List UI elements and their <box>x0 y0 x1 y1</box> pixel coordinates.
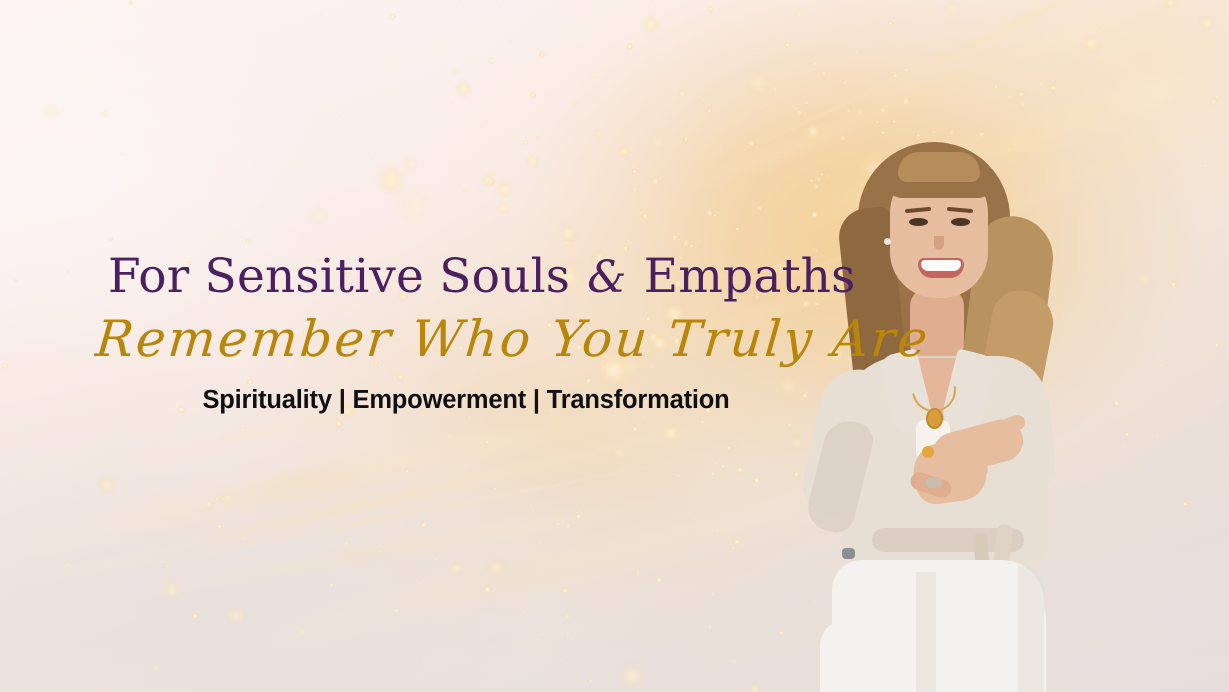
bokeh-sparkle <box>329 583 334 588</box>
bokeh-sparkle <box>701 98 704 101</box>
bokeh-sparkle <box>1203 164 1207 168</box>
bokeh-sparkle <box>109 237 113 241</box>
bokeh-sparkle <box>1210 10 1212 12</box>
bokeh-sparkle <box>193 438 196 441</box>
bokeh-sparkle <box>700 420 705 425</box>
bokeh-sparkle <box>820 70 827 77</box>
bokeh-sparkle <box>1000 17 1004 21</box>
bokeh-sparkle <box>597 188 599 190</box>
bokeh-sparkle <box>588 159 591 162</box>
bokeh-sparkle <box>736 466 744 474</box>
bokeh-sparkle <box>217 524 221 528</box>
bokeh-sparkle <box>509 40 513 44</box>
bokeh-sparkle <box>538 541 541 544</box>
bokeh-sparkle <box>902 98 909 105</box>
bokeh-sparkle <box>485 440 489 444</box>
light-ribbon <box>0 391 694 571</box>
bokeh-sparkle <box>380 168 404 192</box>
bokeh-sparkle <box>488 560 504 576</box>
bokeh-sparkle <box>706 209 714 217</box>
bokeh-sparkle <box>539 52 545 58</box>
bokeh-sparkle <box>529 214 532 217</box>
bokeh-sparkle <box>632 169 637 174</box>
bokeh-sparkle <box>237 663 239 665</box>
bokeh-sparkle <box>53 303 55 305</box>
bokeh-sparkle <box>312 209 327 224</box>
bokeh-sparkle <box>575 513 582 520</box>
bokeh-sparkle <box>450 562 462 574</box>
bokeh-sparkle <box>486 120 489 123</box>
bokeh-sparkle <box>778 630 785 637</box>
bokeh-sparkle <box>463 188 467 192</box>
bokeh-sparkle <box>1011 65 1013 67</box>
bokeh-sparkle <box>44 104 59 119</box>
bokeh-sparkle <box>670 470 672 472</box>
bokeh-sparkle <box>588 678 594 684</box>
bokeh-sparkle <box>1210 41 1213 44</box>
bokeh-sparkle <box>833 21 835 23</box>
bokeh-sparkle <box>1214 342 1220 348</box>
bokeh-sparkle <box>66 563 70 567</box>
bokeh-sparkle <box>419 582 422 585</box>
bokeh-sparkle <box>498 202 509 213</box>
bokeh-sparkle <box>262 547 264 549</box>
bokeh-sparkle <box>405 469 409 473</box>
bokeh-sparkle <box>398 66 401 69</box>
bokeh-sparkle <box>651 134 665 148</box>
bokeh-sparkle <box>228 608 244 624</box>
bokeh-sparkle <box>205 500 212 507</box>
bokeh-sparkle <box>619 186 621 188</box>
bokeh-sparkle <box>741 437 744 440</box>
bokeh-sparkle <box>550 86 552 88</box>
bokeh-sparkle <box>483 585 492 594</box>
bokeh-sparkle <box>712 114 715 117</box>
bokeh-sparkle <box>880 107 886 113</box>
bokeh-sparkle <box>530 92 536 98</box>
bokeh-sparkle <box>573 102 577 106</box>
bokeh-sparkle <box>555 427 557 429</box>
bokeh-sparkle <box>632 426 638 432</box>
light-ribbon <box>64 492 695 610</box>
bokeh-sparkle <box>663 425 679 441</box>
bokeh-sparkle <box>622 245 629 252</box>
bokeh-sparkle <box>566 524 570 528</box>
bokeh-sparkle <box>1172 474 1174 476</box>
light-ribbon <box>26 453 714 589</box>
light-ribbon <box>188 473 892 669</box>
bokeh-sparkle <box>227 550 231 554</box>
bokeh-sparkle <box>578 508 582 512</box>
bokeh-sparkle <box>458 610 461 613</box>
bokeh-sparkle <box>772 86 778 92</box>
bokeh-sparkle <box>639 196 641 198</box>
bokeh-sparkle <box>842 80 848 86</box>
hero-copy: For Sensitive Souls & Empaths Remember W… <box>96 252 836 415</box>
bokeh-sparkle <box>677 474 680 477</box>
bokeh-sparkle <box>420 522 426 528</box>
bokeh-sparkle <box>678 90 686 98</box>
bokeh-sparkle <box>14 279 17 282</box>
bokeh-sparkle <box>129 0 133 4</box>
bokeh-sparkle <box>507 494 509 496</box>
bokeh-sparkle <box>1196 194 1199 197</box>
bokeh-sparkle <box>781 522 783 524</box>
bokeh-sparkle <box>683 240 689 246</box>
bokeh-sparkle <box>848 30 851 33</box>
subject-photo <box>806 120 1136 692</box>
bokeh-sparkle <box>1018 91 1024 97</box>
bokeh-sparkle <box>724 483 727 486</box>
bokeh-sparkle <box>707 109 712 114</box>
bokeh-sparkle <box>137 431 141 435</box>
bokeh-sparkle <box>1174 197 1177 200</box>
bokeh-sparkle <box>487 177 495 185</box>
page-title: For Sensitive Souls & Empaths <box>108 252 836 301</box>
bokeh-sparkle <box>562 177 565 180</box>
bokeh-sparkle <box>1084 36 1099 51</box>
bokeh-sparkle <box>100 477 115 492</box>
bokeh-sparkle <box>500 238 503 241</box>
bokeh-sparkle <box>1098 28 1103 33</box>
bokeh-sparkle <box>905 68 909 72</box>
bokeh-sparkle <box>748 140 755 147</box>
bokeh-sparkle <box>643 17 658 32</box>
bokeh-sparkle <box>165 580 169 584</box>
bokeh-sparkle <box>447 483 450 486</box>
bokeh-sparkle <box>494 487 498 491</box>
light-ribbon <box>0 408 770 599</box>
bokeh-sparkle <box>213 571 216 574</box>
bokeh-sparkle <box>383 448 385 450</box>
bokeh-sparkle <box>404 226 408 230</box>
bokeh-sparkle <box>626 238 631 243</box>
bokeh-sparkle <box>636 571 640 575</box>
bokeh-sparkle <box>594 234 596 236</box>
bokeh-sparkle <box>594 129 604 139</box>
bokeh-sparkle <box>502 553 505 556</box>
bokeh-sparkle <box>102 110 109 117</box>
bokeh-sparkle <box>633 166 636 169</box>
bokeh-sparkle <box>692 62 696 66</box>
bokeh-sparkle <box>650 0 654 4</box>
bokeh-sparkle <box>641 213 648 220</box>
bokeh-sparkle <box>434 557 439 562</box>
bokeh-sparkle <box>628 181 630 183</box>
bokeh-sparkle <box>526 135 529 138</box>
bokeh-sparkle <box>591 72 596 77</box>
bokeh-sparkle <box>301 234 304 237</box>
bokeh-sparkle <box>605 164 608 167</box>
bokeh-sparkle <box>627 47 629 49</box>
bokeh-sparkle <box>217 558 220 561</box>
bokeh-sparkle <box>727 446 731 450</box>
bokeh-sparkle <box>788 423 791 426</box>
bokeh-sparkle <box>721 464 725 468</box>
bokeh-sparkle <box>961 35 963 37</box>
bokeh-sparkle <box>154 499 157 502</box>
bokeh-sparkle <box>651 177 660 186</box>
bokeh-sparkle <box>544 563 546 565</box>
bokeh-sparkle <box>213 481 216 484</box>
bokeh-sparkle <box>621 665 644 688</box>
bokeh-sparkle <box>363 529 365 531</box>
bokeh-sparkle <box>795 10 802 17</box>
bokeh-sparkle <box>710 591 715 596</box>
bokeh-sparkle <box>838 40 840 42</box>
bokeh-sparkle <box>716 529 719 532</box>
bokeh-sparkle <box>493 219 496 222</box>
bokeh-sparkle <box>620 146 630 156</box>
bokeh-sparkle <box>60 551 64 555</box>
bokeh-sparkle <box>736 227 740 231</box>
bokeh-sparkle <box>1091 74 1093 76</box>
bokeh-sparkle <box>711 472 715 476</box>
script-subheadline: Remember Who You Truly Are <box>94 313 839 366</box>
bokeh-sparkle <box>168 565 171 568</box>
bokeh-sparkle <box>44 486 48 490</box>
bokeh-sparkle <box>633 188 636 191</box>
bokeh-sparkle <box>240 427 246 433</box>
bokeh-sparkle <box>707 47 709 49</box>
bokeh-sparkle <box>261 206 264 209</box>
bokeh-sparkle <box>371 157 373 159</box>
hero-banner: For Sensitive Souls & Empaths Remember W… <box>0 0 1229 692</box>
bokeh-sparkle <box>337 509 340 512</box>
bokeh-sparkle <box>1201 17 1213 29</box>
bokeh-sparkle <box>1162 208 1164 210</box>
bokeh-sparkle <box>242 537 245 540</box>
bokeh-sparkle <box>1215 95 1218 98</box>
bokeh-sparkle <box>1139 487 1141 489</box>
bokeh-sparkle <box>714 460 720 466</box>
bokeh-sparkle <box>422 657 425 660</box>
bokeh-sparkle <box>733 538 741 546</box>
bokeh-sparkle <box>1136 488 1138 490</box>
bokeh-sparkle <box>399 190 430 221</box>
bokeh-sparkle <box>790 437 803 450</box>
headline-prefix: For Sensitive Souls <box>108 249 585 304</box>
bokeh-sparkle <box>319 497 321 499</box>
bokeh-sparkle <box>263 428 266 431</box>
bokeh-sparkle <box>561 226 576 241</box>
bokeh-sparkle <box>1210 98 1217 105</box>
bokeh-sparkle <box>67 271 70 274</box>
bokeh-sparkle <box>846 108 850 112</box>
bokeh-sparkle <box>708 625 712 629</box>
bokeh-sparkle <box>450 101 453 104</box>
headline-suffix: Empaths <box>629 249 856 304</box>
bokeh-sparkle <box>729 657 738 666</box>
bokeh-sparkle <box>753 477 760 484</box>
bokeh-sparkle <box>120 153 123 156</box>
bokeh-sparkle <box>497 590 499 592</box>
bokeh-sparkle <box>757 205 763 211</box>
bokeh-sparkle <box>1050 84 1058 92</box>
bokeh-sparkle <box>222 493 232 503</box>
bokeh-sparkle <box>164 563 170 569</box>
bokeh-sparkle <box>234 599 236 601</box>
bokeh-sparkle <box>343 540 350 547</box>
bokeh-sparkle <box>753 47 756 50</box>
bokeh-sparkle <box>888 21 893 26</box>
bokeh-sparkle <box>192 613 197 618</box>
bokeh-sparkle <box>680 91 683 94</box>
bokeh-sparkle <box>698 240 701 243</box>
bokeh-sparkle <box>394 608 399 613</box>
bokeh-sparkle <box>215 497 219 501</box>
bokeh-sparkle <box>856 109 864 117</box>
bokeh-sparkle <box>1019 101 1026 108</box>
bokeh-sparkle <box>784 42 791 49</box>
bokeh-sparkle <box>448 435 451 438</box>
bokeh-sparkle <box>1164 0 1175 8</box>
bokeh-sparkle <box>523 611 526 614</box>
bokeh-sparkle <box>642 416 645 419</box>
bokeh-sparkle <box>940 55 942 57</box>
bokeh-sparkle <box>812 60 819 67</box>
bokeh-sparkle <box>499 4 501 6</box>
bokeh-sparkle <box>556 522 560 526</box>
bokeh-sparkle <box>35 597 37 599</box>
bokeh-sparkle <box>1039 83 1042 86</box>
bokeh-sparkle <box>880 52 882 54</box>
bokeh-sparkle <box>561 587 568 594</box>
bokeh-sparkle <box>849 24 851 26</box>
bokeh-sparkle <box>761 467 763 469</box>
bokeh-sparkle <box>621 454 625 458</box>
bokeh-sparkle <box>732 546 735 549</box>
bokeh-sparkle <box>335 420 343 428</box>
bokeh-sparkle <box>1212 355 1214 357</box>
bokeh-sparkle <box>748 73 769 94</box>
bokeh-sparkle <box>671 222 673 224</box>
bokeh-sparkle <box>559 659 561 661</box>
bokeh-sparkle <box>764 110 767 113</box>
bokeh-sparkle <box>676 62 678 64</box>
bokeh-sparkle <box>1170 281 1177 288</box>
bokeh-sparkle <box>626 43 633 50</box>
bokeh-sparkle <box>987 22 989 24</box>
bokeh-sparkle <box>687 512 690 515</box>
bokeh-sparkle <box>536 136 540 140</box>
bokeh-sparkle <box>527 156 539 168</box>
bokeh-sparkle <box>665 113 668 116</box>
bokeh-sparkle <box>690 244 694 248</box>
bokeh-sparkle <box>793 471 800 478</box>
light-ribbon <box>844 0 1229 120</box>
bokeh-sparkle <box>575 70 578 73</box>
bokeh-sparkle <box>531 509 535 513</box>
bokeh-sparkle <box>164 493 166 495</box>
bokeh-sparkle <box>523 140 528 145</box>
bokeh-sparkle <box>805 101 809 105</box>
bokeh-sparkle <box>1007 95 1011 99</box>
bokeh-sparkle <box>542 632 546 636</box>
bokeh-sparkle <box>855 51 857 53</box>
bokeh-sparkle <box>564 613 571 620</box>
bokeh-sparkle <box>234 425 237 428</box>
bokeh-sparkle <box>214 520 216 522</box>
bokeh-sparkle <box>1049 71 1052 74</box>
bokeh-sparkle <box>718 246 720 248</box>
bokeh-sparkle <box>683 136 689 142</box>
bokeh-sparkle <box>468 416 471 419</box>
bokeh-sparkle <box>451 69 458 76</box>
bokeh-sparkle <box>457 0 461 4</box>
bokeh-sparkle <box>800 502 802 504</box>
bokeh-sparkle <box>379 550 382 553</box>
bokeh-sparkle <box>672 234 677 239</box>
bokeh-sparkle <box>638 457 641 460</box>
bokeh-sparkle <box>775 156 778 159</box>
bokeh-sparkle <box>1182 501 1189 508</box>
bokeh-sparkle <box>389 13 396 20</box>
bokeh-sparkle <box>267 441 269 443</box>
bokeh-sparkle <box>687 512 689 514</box>
bokeh-sparkle <box>298 628 306 636</box>
bokeh-sparkle <box>533 38 536 41</box>
bokeh-sparkle <box>713 214 717 218</box>
bokeh-sparkle <box>620 467 623 470</box>
bokeh-sparkle <box>749 684 761 692</box>
bokeh-sparkle <box>492 171 495 174</box>
bokeh-sparkle <box>488 57 495 64</box>
bokeh-sparkle <box>503 0 505 2</box>
bokeh-sparkle <box>624 517 626 519</box>
tagline: Spirituality | Empowerment | Transformat… <box>96 386 836 415</box>
bokeh-sparkle <box>656 576 663 583</box>
bokeh-sparkle <box>35 539 37 541</box>
bokeh-sparkle <box>165 583 180 598</box>
bokeh-sparkle <box>892 72 898 78</box>
bokeh-sparkle <box>1160 364 1163 367</box>
bokeh-sparkle <box>778 180 780 182</box>
bokeh-sparkle <box>741 544 743 546</box>
bokeh-sparkle <box>456 81 470 95</box>
bokeh-sparkle <box>708 6 714 12</box>
bokeh-sparkle <box>1156 434 1159 437</box>
bokeh-sparkle <box>245 239 249 243</box>
bokeh-sparkle <box>565 631 571 637</box>
bokeh-sparkle <box>658 578 661 581</box>
bokeh-sparkle <box>689 178 691 180</box>
bokeh-sparkle <box>319 13 322 16</box>
bokeh-sparkle <box>926 4 931 9</box>
bokeh-sparkle <box>565 240 572 247</box>
bokeh-sparkle <box>796 109 802 115</box>
bokeh-sparkle <box>600 551 602 553</box>
bokeh-sparkle <box>482 174 495 187</box>
bokeh-sparkle <box>747 2 750 5</box>
bokeh-sparkle <box>624 422 626 424</box>
bokeh-sparkle <box>1138 271 1152 285</box>
bokeh-sparkle <box>2 363 8 369</box>
bokeh-sparkle <box>739 440 741 442</box>
bokeh-sparkle <box>611 446 625 460</box>
bokeh-sparkle <box>404 157 416 169</box>
bokeh-sparkle <box>993 84 999 90</box>
bokeh-sparkle <box>619 87 622 90</box>
bokeh-sparkle <box>152 664 160 672</box>
bokeh-sparkle <box>339 114 341 116</box>
bokeh-sparkle <box>945 2 960 17</box>
ampersand-glyph: & <box>585 252 628 303</box>
bokeh-sparkle <box>497 181 513 197</box>
